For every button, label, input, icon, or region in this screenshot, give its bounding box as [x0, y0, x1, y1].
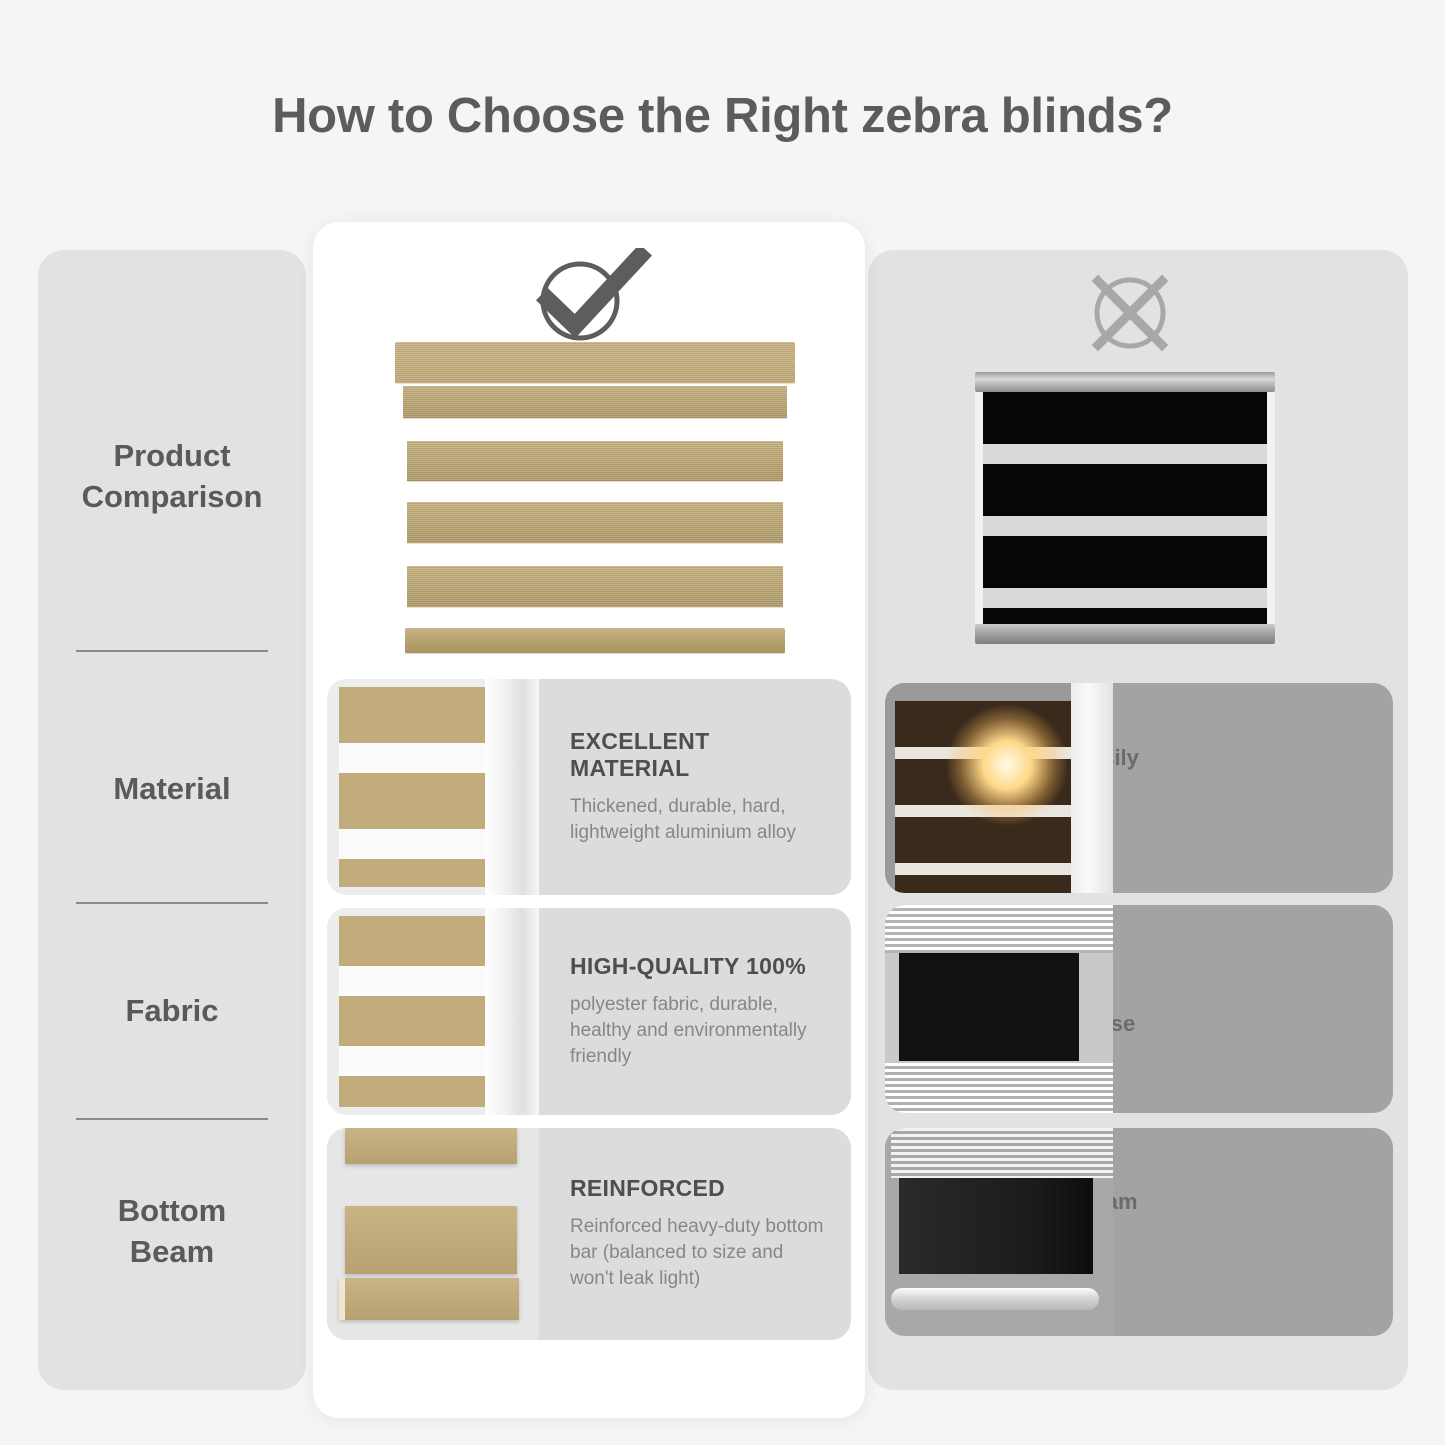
- card-heading: REINFORCED: [570, 1175, 829, 1202]
- blind-bottom-bar: [891, 1288, 1099, 1310]
- card-body: polyester fabric, durable, healthy and e…: [570, 992, 829, 1071]
- window-frame: [1071, 683, 1113, 893]
- row-divider: [76, 650, 268, 652]
- cross-circle-icon: [1080, 270, 1180, 356]
- blind-fabric: [339, 916, 485, 1107]
- good-card-text: EXCELLENT MATERIAL Thickened, durable, h…: [570, 728, 829, 846]
- blind-bottom-bar: [339, 1278, 519, 1320]
- blind-slat: [407, 566, 783, 608]
- good-card-text: REINFORCED Reinforced heavy-duty bottom …: [570, 1175, 829, 1293]
- window-frame: [485, 679, 539, 895]
- card-heading: HIGH-QUALITY 100%: [570, 953, 829, 980]
- good-product-image: [395, 342, 795, 662]
- blind-bottom-bar: [975, 624, 1275, 644]
- card-heading: EXCELLENT MATERIAL: [570, 728, 829, 782]
- blind-slat: [345, 1128, 517, 1164]
- blind-slat: [403, 386, 787, 419]
- row-divider: [76, 1118, 268, 1120]
- blind-headrail: [975, 372, 1275, 392]
- card-body: Thickened, durable, hard, lightweight al…: [570, 794, 829, 846]
- row-label-line1: Fabric: [38, 990, 306, 1031]
- card-body: Reinforced heavy-duty bottom bar (balanc…: [570, 1214, 829, 1293]
- blind-fabric: [899, 1178, 1093, 1274]
- good-card-text: HIGH-QUALITY 100% polyester fabric, dura…: [570, 953, 829, 1071]
- window-frame: [485, 908, 539, 1115]
- check-circle-icon: [528, 248, 658, 344]
- sunlight-leaking-through-blind-image: [885, 683, 1113, 893]
- row-divider: [76, 902, 268, 904]
- good-card-material: EXCELLENT MATERIAL Thickened, durable, h…: [327, 679, 851, 895]
- blind-fabric: [339, 687, 485, 887]
- sheer-stripe: [885, 905, 1113, 953]
- black-sheer-fabric-closeup-image: [885, 905, 1113, 1113]
- good-card-bottom-beam: REINFORCED Reinforced heavy-duty bottom …: [327, 1128, 851, 1340]
- blind-slat: [407, 441, 783, 482]
- blind-headrail: [395, 342, 795, 384]
- sheer-stripe: [885, 1063, 1113, 1113]
- blind-slat: [407, 502, 783, 544]
- row-label-line2: Beam: [38, 1231, 306, 1272]
- beige-blind-fabric-closeup-image: [327, 908, 539, 1115]
- row-label-bottom-beam: Bottom Beam: [38, 1190, 306, 1272]
- bad-card-material: Fragile material easily deformed and dam…: [885, 683, 1393, 893]
- page-title: How to Choose the Right zebra blinds?: [0, 88, 1445, 144]
- blind-bottom-bar: [405, 628, 785, 654]
- thin-bottom-rail-closeup-image: [885, 1128, 1113, 1336]
- row-label-material: Material: [38, 768, 306, 809]
- sun-glare-icon: [947, 705, 1067, 825]
- row-label-line1: Material: [38, 768, 306, 809]
- bad-card-bottom-beam: Slotless bottom beam rails are thin, lea…: [885, 1128, 1393, 1336]
- blind-slat: [345, 1206, 517, 1274]
- row-label-line1: Bottom: [38, 1190, 306, 1231]
- blind-fabric: [899, 953, 1079, 1061]
- blind-fabric: [983, 392, 1267, 624]
- row-label-line2: Comparison: [38, 476, 306, 517]
- bad-product-image: [975, 372, 1275, 644]
- bad-card-fabric: Made of colloidal material, harmful to h…: [885, 905, 1393, 1113]
- reinforced-bottom-bar-closeup-image: [327, 1128, 539, 1340]
- row-label-fabric: Fabric: [38, 990, 306, 1031]
- row-label-product-comparison: Product Comparison: [38, 435, 306, 517]
- beige-blind-in-window-frame-image: [327, 679, 539, 895]
- sheer-stripe: [891, 1128, 1113, 1178]
- good-card-fabric: HIGH-QUALITY 100% polyester fabric, dura…: [327, 908, 851, 1115]
- row-label-line1: Product: [38, 435, 306, 476]
